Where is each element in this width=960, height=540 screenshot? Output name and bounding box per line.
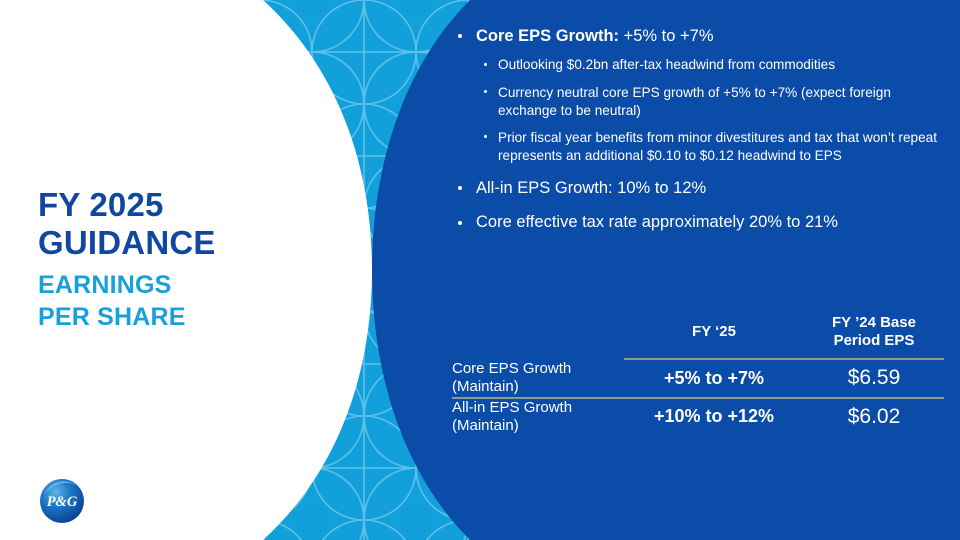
row-label-core-eps-growth: Core EPS Growth (Maintain): [452, 360, 624, 397]
bullet-dot-icon: [484, 90, 487, 93]
table-header-blank: [452, 306, 624, 358]
row-value-all-in-base-eps: $6.02: [804, 399, 944, 436]
sub-bullet-currency-neutral: Currency neutral core EPS growth of +5% …: [476, 84, 948, 120]
row-label-all-in-eps-growth: All-in EPS Growth (Maintain): [452, 399, 624, 436]
slide-canvas: FY 2025 GUIDANCE EARNINGS PER SHARE P&G …: [0, 0, 960, 540]
bullet-dot-icon: [458, 34, 462, 38]
sub-bullet-text: Prior fiscal year benefits from minor di…: [498, 130, 937, 163]
row-value-core-base-eps: $6.59: [804, 360, 944, 397]
bullet-core-effective-tax-rate: Core effective tax rate approximately 20…: [452, 212, 948, 233]
page-title: FY 2025 GUIDANCE: [38, 186, 278, 261]
row-value-all-in-fy25: +10% to +12%: [624, 399, 804, 436]
bullet-dot-icon: [458, 186, 462, 190]
pg-logo-icon: P&G: [38, 477, 86, 525]
table-header-row: FY ‘25 FY ’24 Base Period EPS: [452, 306, 944, 358]
page-subtitle: EARNINGS PER SHARE: [38, 269, 278, 333]
sub-bullet-text: Currency neutral core EPS growth of +5% …: [498, 85, 891, 118]
sub-bullet-prior-year-benefits: Prior fiscal year benefits from minor di…: [476, 129, 948, 165]
sub-bullet-commodities: Outlooking $0.2bn after-tax headwind fro…: [476, 56, 948, 74]
table-header-fy25: FY ‘25: [624, 306, 804, 358]
title-block: FY 2025 GUIDANCE EARNINGS PER SHARE: [38, 186, 278, 333]
eps-guidance-table: FY ‘25 FY ’24 Base Period EPS Core EPS G…: [452, 306, 944, 435]
table-header-base-period-eps: FY ’24 Base Period EPS: [804, 306, 944, 358]
bullet-lead: Core EPS Growth:: [476, 27, 619, 45]
bullet-core-eps-growth: Core EPS Growth: +5% to +7% Outlooking $…: [452, 26, 948, 165]
bullet-text: All-in EPS Growth: 10% to 12%: [476, 179, 706, 197]
bullet-dot-icon: [458, 221, 462, 225]
table-row: All-in EPS Growth (Maintain) +10% to +12…: [452, 399, 944, 436]
table-body: Core EPS Growth (Maintain) +5% to +7% $6…: [452, 360, 944, 435]
sub-bullet-text: Outlooking $0.2bn after-tax headwind fro…: [498, 57, 835, 72]
bullet-dot-icon: [484, 135, 487, 138]
pg-logo-text: P&G: [47, 494, 78, 510]
bullet-text: Core effective tax rate approximately 20…: [476, 213, 838, 231]
sub-bullet-list: Outlooking $0.2bn after-tax headwind fro…: [476, 56, 948, 164]
bullet-text: +5% to +7%: [619, 27, 713, 45]
guidance-bullets-panel: Core EPS Growth: +5% to +7% Outlooking $…: [452, 26, 948, 247]
bullet-dot-icon: [484, 63, 487, 66]
table-header: FY ‘25 FY ’24 Base Period EPS: [452, 306, 944, 360]
bullet-list: Core EPS Growth: +5% to +7% Outlooking $…: [452, 26, 948, 234]
row-value-core-fy25: +5% to +7%: [624, 360, 804, 397]
bullet-all-in-eps-growth: All-in EPS Growth: 10% to 12%: [452, 178, 948, 199]
table-row: Core EPS Growth (Maintain) +5% to +7% $6…: [452, 360, 944, 397]
